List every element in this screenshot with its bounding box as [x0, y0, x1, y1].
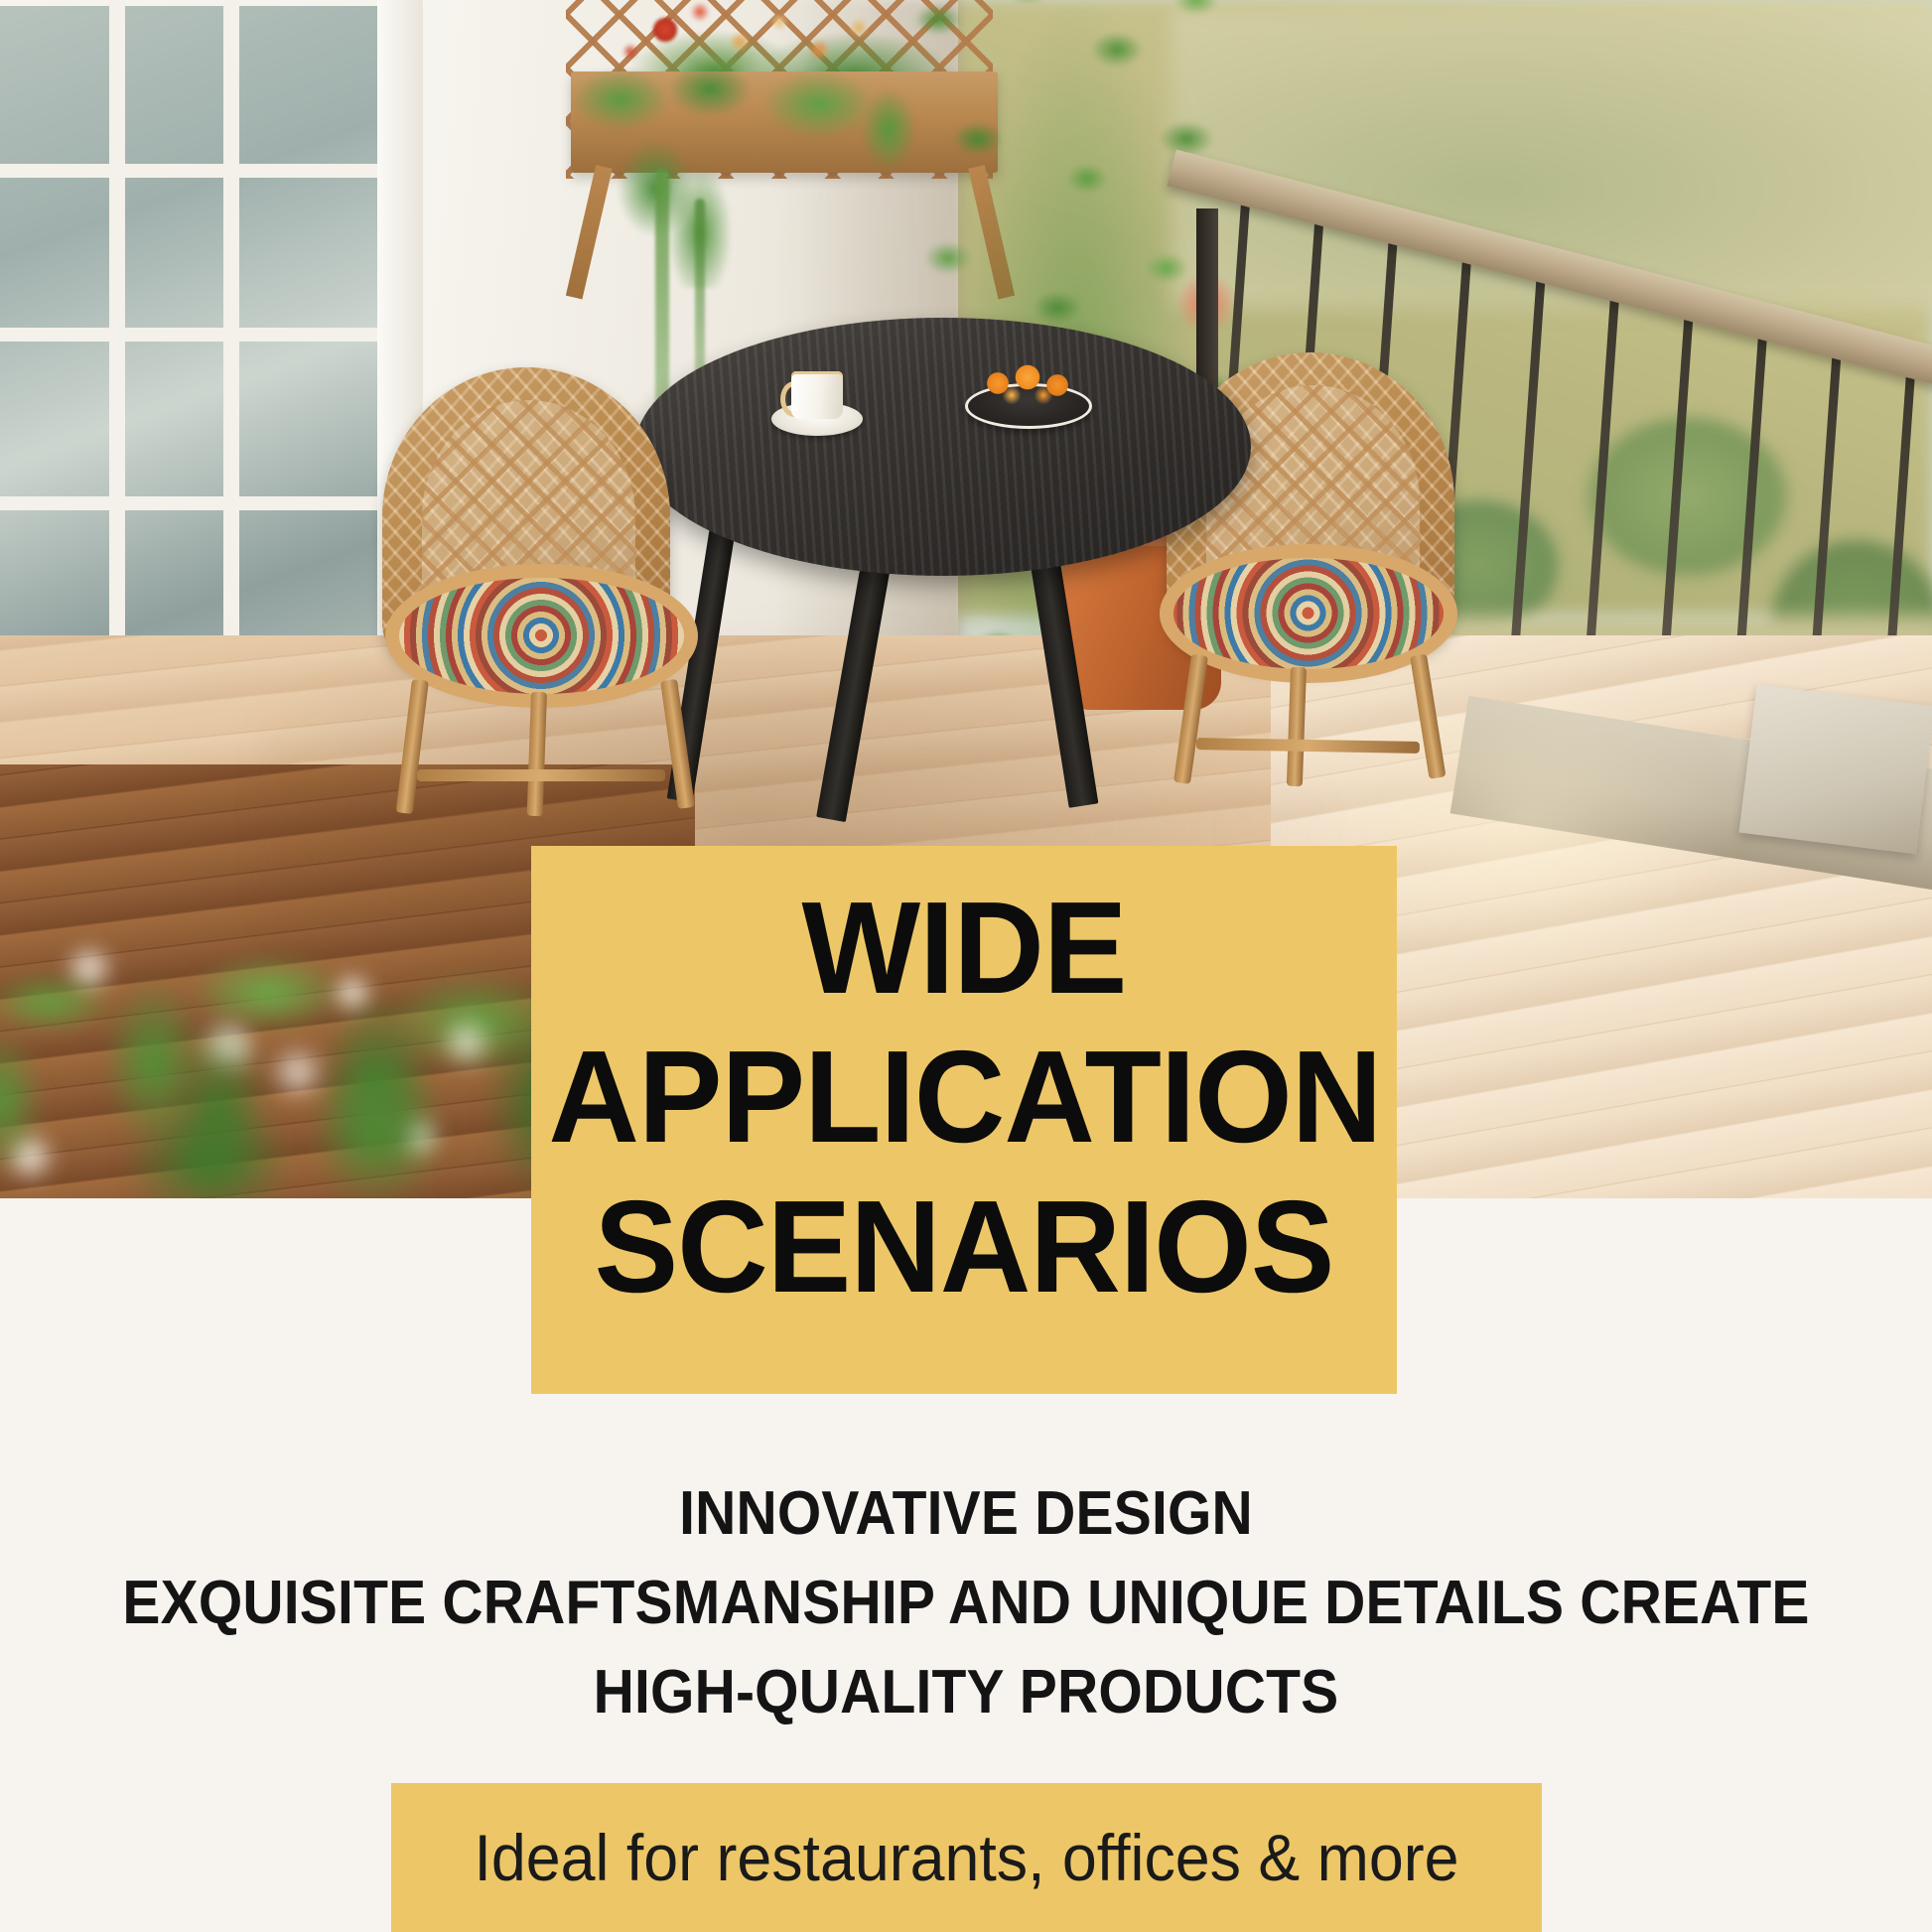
title-line-3: SCENARIOS — [548, 1173, 1379, 1321]
door-mullion-vertical — [109, 0, 125, 725]
door-mullion-vertical — [223, 0, 239, 725]
chair-stretcher — [417, 769, 665, 781]
poster-body-copy: INNOVATIVE DESIGN EXQUISITE CRAFTSMANSHI… — [77, 1469, 1855, 1737]
title-line-2: APPLICATION — [548, 1023, 1379, 1172]
title-line-1: WIDE — [548, 874, 1379, 1023]
orange-pastries — [976, 363, 1083, 407]
body-line-1: INNOVATIVE DESIGN — [77, 1469, 1855, 1559]
coffee-cup — [791, 371, 843, 419]
body-line-2: EXQUISITE CRAFTSMANSHIP AND UNIQUE DETAI… — [77, 1559, 1855, 1648]
poster-title: WIDE APPLICATION SCENARIOS — [548, 874, 1379, 1321]
cta-text: Ideal for restaurants, offices & more — [420, 1783, 1513, 1932]
round-table-top — [635, 318, 1251, 576]
chair-seat-rim — [385, 564, 698, 708]
body-line-3: HIGH-QUALITY PRODUCTS — [77, 1648, 1855, 1737]
door-mullion-horizontal — [0, 328, 397, 342]
product-poster: WIDE APPLICATION SCENARIOS INNOVATIVE DE… — [0, 0, 1932, 1932]
door-mullion-horizontal — [0, 164, 397, 178]
stone-block — [1739, 685, 1932, 855]
door-mullion-horizontal — [0, 496, 397, 510]
